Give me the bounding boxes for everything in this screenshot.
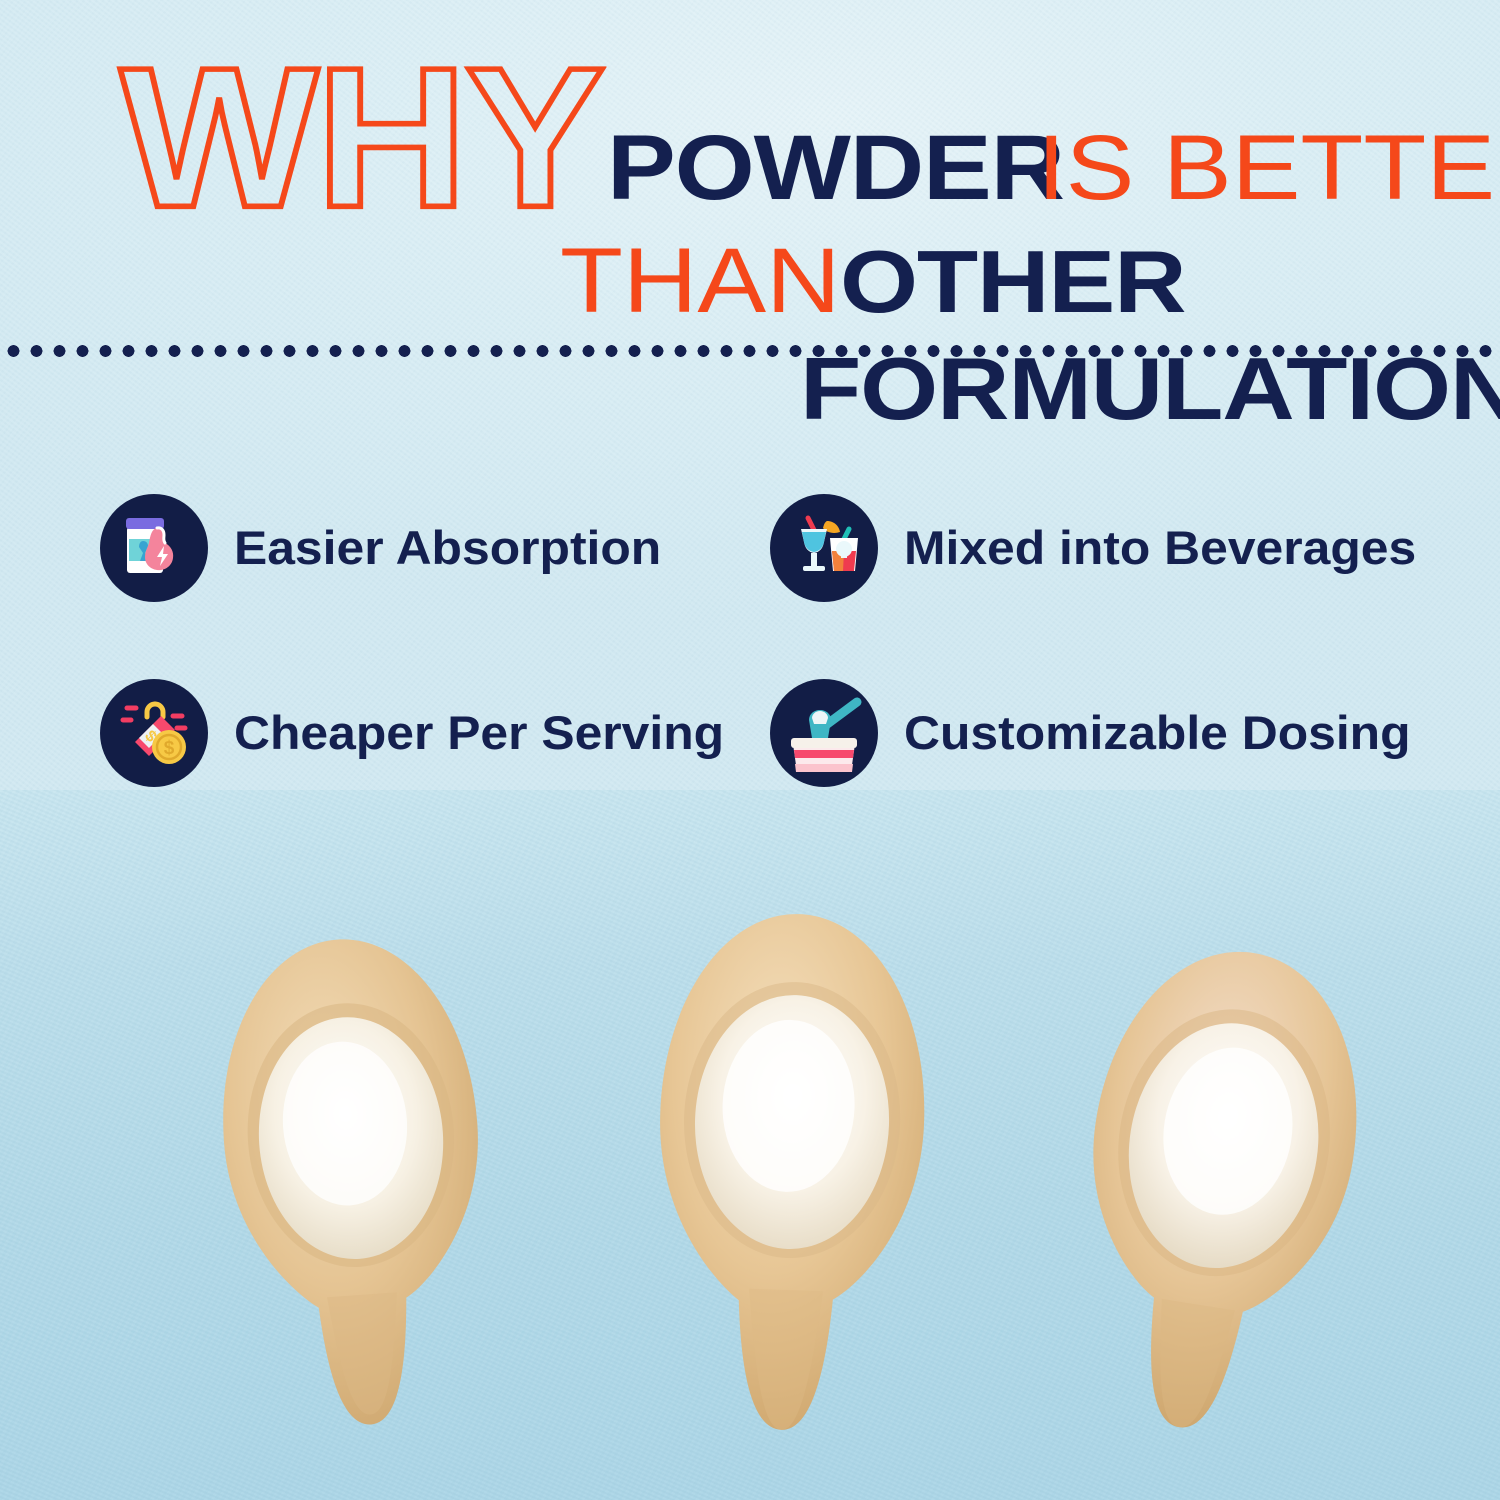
feature-label-easier-absorption: Easier Absorption: [234, 520, 661, 575]
headline-word-is-better: IS BETTER: [1037, 116, 1500, 221]
dotted-divider: [0, 345, 1500, 357]
headline: WHY POWDER IS BETTER THAN OTHER FORMULAT…: [0, 60, 1500, 440]
headline-word-powder: POWDER: [607, 116, 1064, 221]
headline-word-other: OTHER: [840, 231, 1185, 333]
infographic-page: WHY POWDER IS BETTER THAN OTHER FORMULAT…: [0, 0, 1500, 1500]
feature-label-customizable-dosing: Customizable Dosing: [904, 705, 1411, 760]
feature-item-easier-absorption: Easier Absorption: [100, 455, 770, 640]
svg-text:$: $: [164, 738, 175, 759]
feature-list: Easier Absorption: [100, 455, 1440, 825]
product-photo: [0, 790, 1500, 1500]
spoon-center: [620, 870, 960, 1500]
feature-label-mixed-into-beverages: Mixed into Beverages: [904, 520, 1416, 575]
price-tag-coin-icon: $ $: [100, 679, 208, 787]
cocktail-beverages-icon: [770, 494, 878, 602]
protein-jar-stomach-icon: [100, 494, 208, 602]
scoop-tub-icon: [770, 679, 878, 787]
headline-word-why: WHY: [120, 51, 603, 226]
feature-item-mixed-into-beverages: Mixed into Beverages: [770, 455, 1440, 640]
feature-label-cheaper-per-serving: Cheaper Per Serving: [234, 705, 724, 760]
headline-word-than: THAN: [560, 229, 841, 334]
spoon-right: [1045, 910, 1385, 1500]
spoon-left: [190, 895, 520, 1500]
